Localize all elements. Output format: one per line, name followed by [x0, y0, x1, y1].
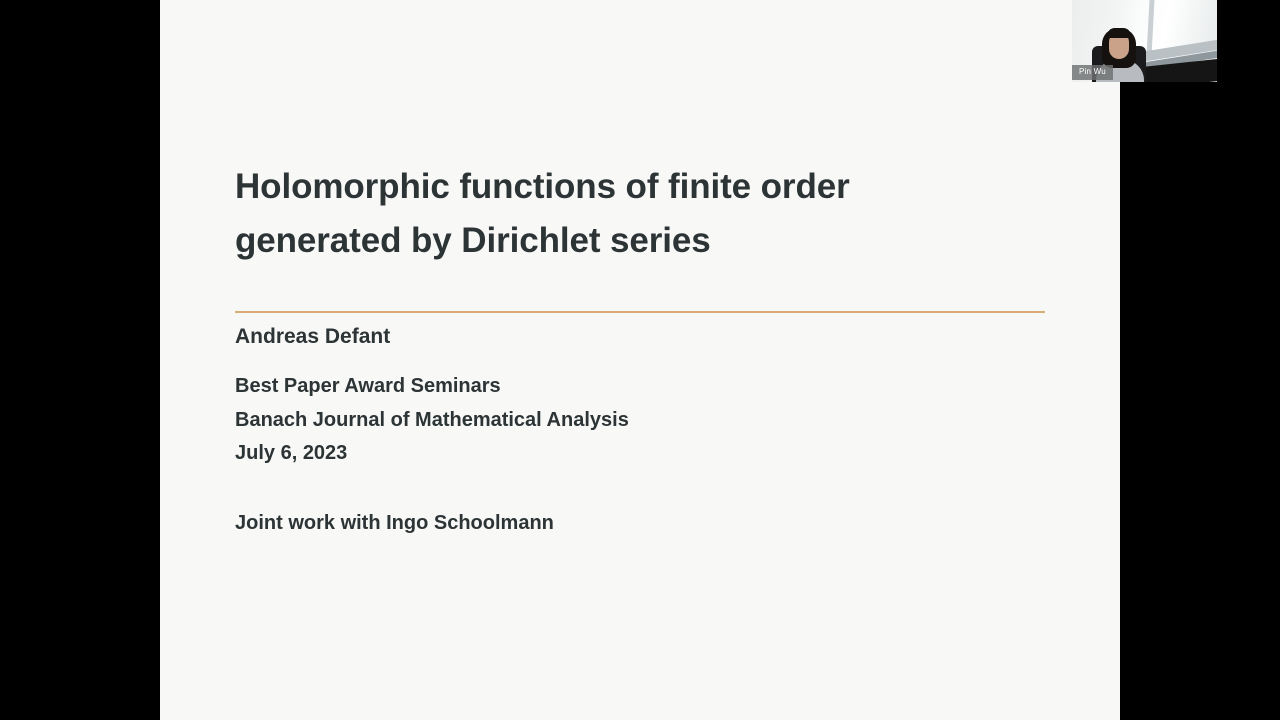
joint-work-credit: Joint work with Ingo Schoolmann	[235, 512, 554, 535]
presentation-slide: Holomorphic functions of finite order ge…	[160, 0, 1120, 720]
author-name: Andreas Defant	[235, 325, 390, 349]
title-divider-rule	[235, 311, 1045, 313]
slide-content: Holomorphic functions of finite order ge…	[235, 0, 1045, 720]
slide-meta-block: Best Paper Award Seminars Banach Journal…	[235, 370, 629, 471]
webcam-video-tile[interactable]: Pin Wu	[1072, 0, 1217, 82]
slide-title-line-2: generated by Dirichlet series	[235, 214, 935, 268]
meta-line-date: July 6, 2023	[235, 437, 629, 471]
meta-line-event: Best Paper Award Seminars	[235, 370, 629, 404]
person-fringe-shape	[1107, 28, 1131, 38]
meta-line-journal: Banach Journal of Mathematical Analysis	[235, 404, 629, 438]
slide-title: Holomorphic functions of finite order ge…	[235, 160, 935, 268]
participant-name-badge: Pin Wu	[1072, 65, 1113, 80]
letterbox-stage: Holomorphic functions of finite order ge…	[0, 0, 1280, 720]
slide-title-line-1: Holomorphic functions of finite order	[235, 160, 935, 214]
